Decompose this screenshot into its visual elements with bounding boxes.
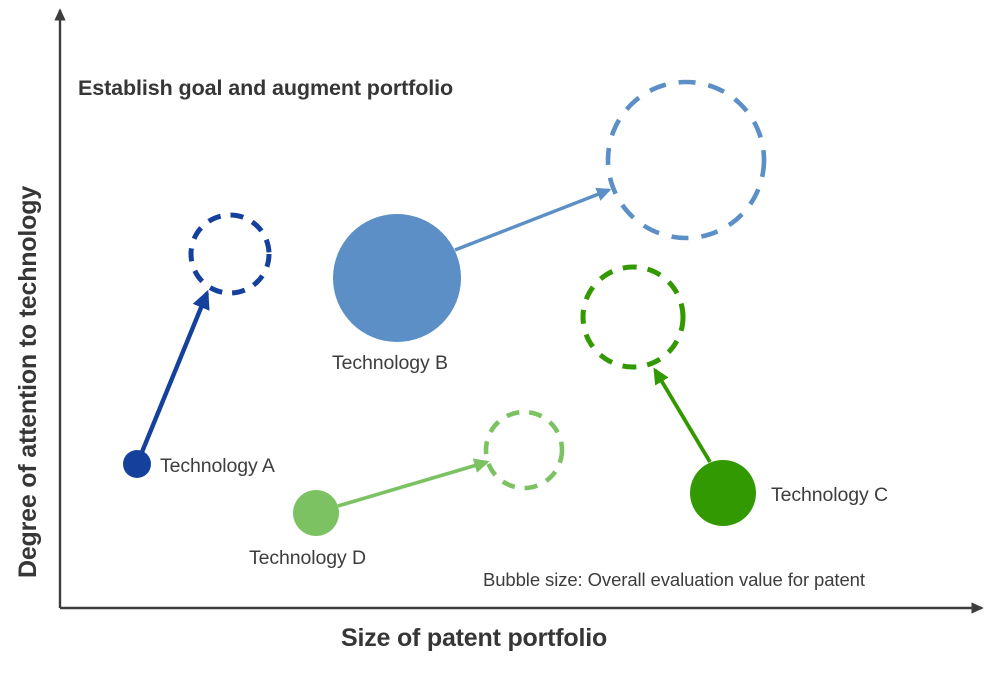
technology-b-bubble[interactable] xyxy=(333,214,461,342)
series-technology-d xyxy=(293,412,562,536)
technology-a-label: Technology A xyxy=(160,455,275,478)
bubble-size-legend: Bubble size: Overall evaluation value fo… xyxy=(483,569,865,591)
technology-a-target-bubble[interactable] xyxy=(191,215,269,293)
technology-a-bubble[interactable] xyxy=(123,450,151,478)
technology-c-target-bubble[interactable] xyxy=(583,267,683,367)
chart-title: Establish goal and augment portfolio xyxy=(78,76,453,101)
x-axis-title: Size of patent portfolio xyxy=(341,624,607,653)
technology-d-bubble[interactable] xyxy=(293,490,339,536)
technology-c-bubble[interactable] xyxy=(690,460,756,526)
series-technology-c xyxy=(583,267,756,526)
technology-c-label: Technology C xyxy=(771,484,888,507)
series-technology-b xyxy=(333,82,764,342)
technology-c-arrow xyxy=(655,370,710,462)
technology-d-label: Technology D xyxy=(249,547,366,570)
technology-a-arrow xyxy=(142,293,207,452)
technology-b-label: Technology B xyxy=(332,352,448,375)
technology-d-arrow xyxy=(338,462,487,506)
technology-b-arrow xyxy=(455,190,609,250)
series-technology-a xyxy=(123,215,269,478)
technology-b-target-bubble[interactable] xyxy=(608,82,764,238)
y-axis-title: Degree of attention to technology xyxy=(14,18,43,578)
bubble-chart-diagram: Establish goal and augment portfolio Tec… xyxy=(0,0,995,673)
technology-d-target-bubble[interactable] xyxy=(486,412,562,488)
